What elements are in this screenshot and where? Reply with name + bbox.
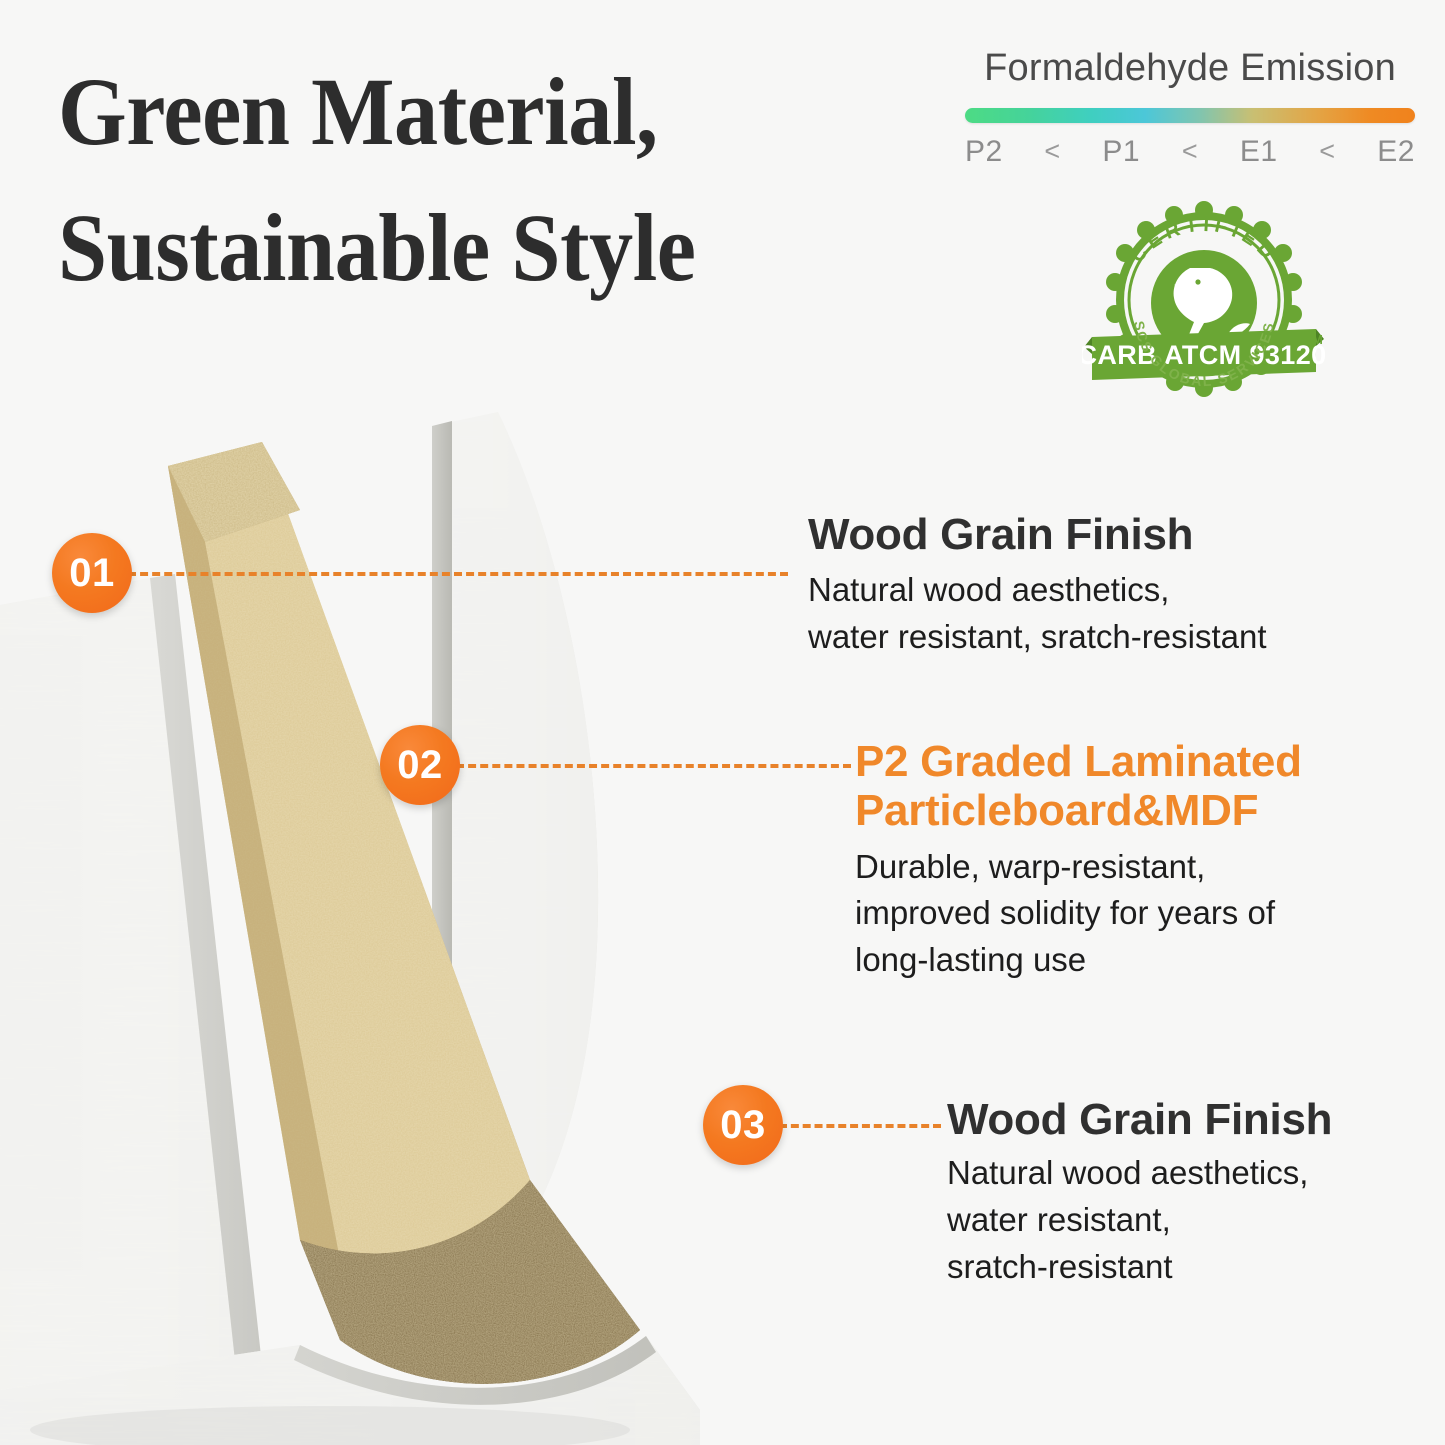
emission-grade-e1: E1	[1240, 135, 1278, 169]
trademark-symbol: TM	[1304, 332, 1323, 347]
leader-line-02	[456, 764, 851, 768]
callout-03-body: Natural wood aesthetics, water resistant…	[947, 1150, 1417, 1291]
emission-grade-p1: P1	[1102, 135, 1140, 169]
callout-badge-03[interactable]: 03	[703, 1085, 783, 1165]
callout-02-body: Durable, warp-resistant, improved solidi…	[855, 844, 1415, 985]
carb-certification-badge: CERTIFIED CARB ATCM 93120 T	[1082, 196, 1327, 401]
callout-02-title: P2 Graded Laminated Particleboard&MDF	[855, 737, 1415, 836]
callout-01: Wood Grain Finish Natural wood aesthetic…	[808, 510, 1408, 661]
less-than-icon-2: <	[1182, 136, 1198, 167]
certification-banner: CARB ATCM 93120	[1082, 329, 1327, 380]
emission-scale-labels: P2 < P1 < E1 < E2	[965, 135, 1415, 169]
carb-banner-text: CARB ATCM 93120	[1082, 340, 1327, 370]
emission-grade-e2: E2	[1377, 135, 1415, 169]
callout-03: Wood Grain Finish Natural wood aesthetic…	[947, 1095, 1417, 1291]
page-title: Green Material, Sustainable Style	[58, 44, 914, 317]
emission-gradient-bar	[965, 108, 1415, 123]
callout-03-title: Wood Grain Finish	[947, 1095, 1417, 1144]
callout-02: P2 Graded Laminated Particleboard&MDF Du…	[855, 737, 1415, 984]
product-panel-illustration	[0, 390, 870, 1445]
leader-line-03	[779, 1124, 941, 1128]
less-than-icon-3: <	[1319, 136, 1335, 167]
formaldehyde-emission-scale: Formaldehyde Emission P2 < P1 < E1 < E2	[965, 48, 1415, 169]
emission-grade-p2: P2	[965, 135, 1003, 169]
infographic-canvas: Green Material, Sustainable Style Formal…	[0, 0, 1445, 1445]
callout-badge-02[interactable]: 02	[380, 725, 460, 805]
callout-01-title: Wood Grain Finish	[808, 510, 1408, 559]
callout-badge-01[interactable]: 01	[52, 533, 132, 613]
leader-line-01	[128, 572, 788, 576]
less-than-icon-1: <	[1044, 136, 1060, 167]
callout-01-body: Natural wood aesthetics, water resistant…	[808, 567, 1408, 661]
emission-scale-title: Formaldehyde Emission	[965, 48, 1415, 90]
